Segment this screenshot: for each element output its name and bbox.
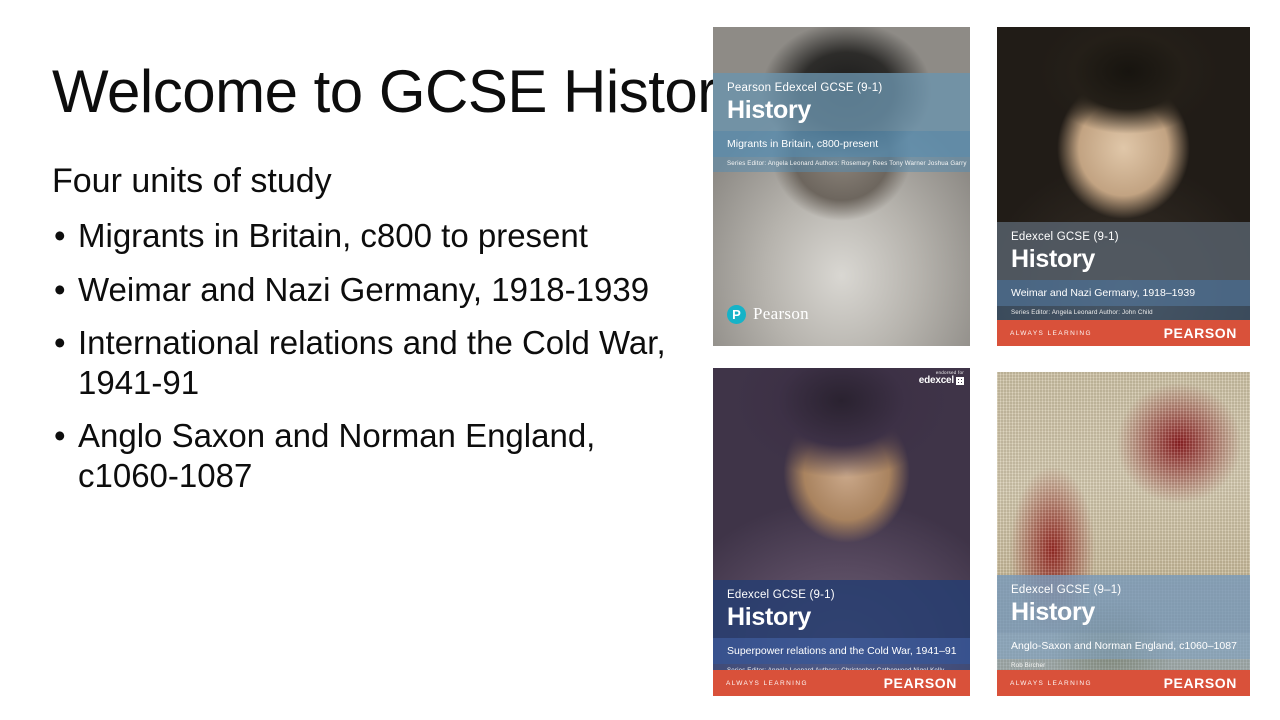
cover-band-stack: Edexcel GCSE (9–1) History Anglo-Saxon a…	[997, 575, 1250, 674]
cover-subtitle: Weimar and Nazi Germany, 1918–1939	[997, 280, 1250, 306]
publisher-brand-bar: Always Learning PEARSON	[713, 670, 970, 696]
cover-band-stack: Edexcel GCSE (9-1) History Weimar and Na…	[997, 222, 1250, 321]
cover-subtitle: Anglo-Saxon and Norman England, c1060–10…	[997, 633, 1250, 659]
book-cover-weimar-and-nazi-germany: Edexcel GCSE (9-1) History Weimar and Na…	[997, 27, 1250, 346]
cover-series-title: History	[727, 97, 956, 124]
pearson-wordmark: Pearson	[753, 304, 809, 324]
always-learning-label: Always Learning	[726, 680, 808, 687]
cover-eyebrow: Edexcel GCSE (9–1)	[1011, 584, 1236, 598]
lead-line: Four units of study	[52, 161, 690, 202]
publisher-brand-bar: Always Learning PEARSON	[997, 320, 1250, 346]
list-item: • Anglo Saxon and Norman England, c1060-…	[50, 416, 690, 495]
cover-title-band: Pearson Edexcel GCSE (9-1) History	[713, 73, 970, 131]
endorsed-by-edexcel-badge: endorsed for edexcel	[919, 371, 964, 386]
list-item-label: Anglo Saxon and Norman England, c1060-10…	[78, 417, 595, 494]
cover-eyebrow: Edexcel GCSE (9-1)	[727, 589, 956, 603]
cover-title-band: Edexcel GCSE (9-1) History	[997, 222, 1250, 280]
pearson-wordmark: PEARSON	[1164, 675, 1237, 691]
slide: Welcome to GCSE History! Four units of s…	[0, 0, 1280, 720]
pearson-wordmark: PEARSON	[1164, 325, 1237, 341]
book-cover-grid: Pearson Edexcel GCSE (9-1) History Migra…	[713, 27, 1250, 696]
list-item-label: Migrants in Britain, c800 to present	[78, 217, 588, 254]
cover-title-band: Edexcel GCSE (9-1) History	[713, 580, 970, 638]
bullet-icon: •	[54, 216, 66, 256]
endorsed-label: endorsed for	[919, 371, 964, 376]
always-learning-label: Always Learning	[1010, 330, 1092, 337]
pearson-wordmark: PEARSON	[884, 675, 957, 691]
bullet-icon: •	[54, 323, 66, 363]
cover-eyebrow: Pearson Edexcel GCSE (9-1)	[727, 82, 956, 96]
list-item: • Migrants in Britain, c800 to present	[50, 216, 690, 256]
publisher-brand-bar: Always Learning PEARSON	[997, 670, 1250, 696]
book-cover-migrants-in-britain: Pearson Edexcel GCSE (9-1) History Migra…	[713, 27, 970, 346]
list-item: • International relations and the Cold W…	[50, 323, 690, 402]
cover-subtitle: Superpower relations and the Cold War, 1…	[713, 638, 970, 664]
cover-series-title: History	[1011, 599, 1236, 626]
list-item-label: Weimar and Nazi Germany, 1918-1939	[78, 271, 649, 308]
cover-authors: Series Editor: Angela Leonard Author: Jo…	[997, 306, 1250, 321]
edexcel-grid-icon	[956, 377, 964, 385]
edexcel-wordmark: edexcel	[919, 376, 954, 386]
bullet-icon: •	[54, 270, 66, 310]
bullet-icon: •	[54, 416, 66, 456]
cover-band-stack: Pearson Edexcel GCSE (9-1) History Migra…	[713, 73, 970, 172]
unit-list: • Migrants in Britain, c800 to present •…	[50, 216, 690, 496]
always-learning-label: Always Learning	[1010, 680, 1092, 687]
pearson-mark-icon: P	[727, 305, 746, 324]
page-title: Welcome to GCSE History!	[52, 58, 690, 125]
cover-title-band: Edexcel GCSE (9–1) History	[997, 575, 1250, 633]
cover-series-title: History	[1011, 246, 1236, 273]
slide-text-column: Welcome to GCSE History! Four units of s…	[50, 58, 690, 510]
cover-band-stack: Edexcel GCSE (9-1) History Superpower re…	[713, 580, 970, 679]
book-cover-anglo-saxon-and-norman-england: Edexcel GCSE (9–1) History Anglo-Saxon a…	[997, 372, 1250, 696]
cover-eyebrow: Edexcel GCSE (9-1)	[1011, 231, 1236, 245]
cover-authors: Series Editor: Angela Leonard Authors: R…	[713, 157, 970, 172]
book-cover-superpower-relations-cold-war: endorsed for edexcel Edexcel GCSE (9-1) …	[713, 368, 970, 696]
cover-subtitle: Migrants in Britain, c800-present	[713, 131, 970, 157]
list-item-label: International relations and the Cold War…	[78, 324, 666, 401]
cover-series-title: History	[727, 604, 956, 631]
list-item: • Weimar and Nazi Germany, 1918-1939	[50, 270, 690, 310]
pearson-logo: P Pearson	[727, 304, 809, 324]
